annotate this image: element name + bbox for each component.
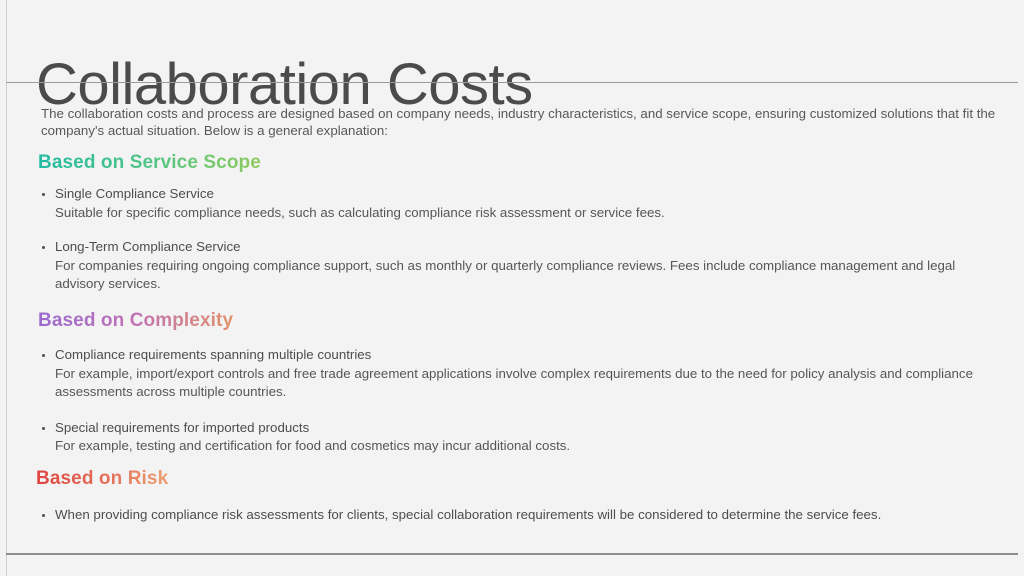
- list-item: Compliance requirements spanning multipl…: [38, 346, 998, 402]
- section-heading-complexity: Based on Complexity: [38, 308, 233, 334]
- bullet-description: Suitable for specific compliance needs, …: [55, 204, 998, 223]
- title-divider: [6, 82, 1018, 83]
- bullet-title: When providing compliance risk assessmen…: [55, 506, 996, 525]
- bullet-title: Compliance requirements spanning multipl…: [55, 346, 998, 365]
- bullet-description: For example, testing and certification f…: [55, 437, 998, 456]
- footer-divider: [6, 553, 1018, 555]
- section-service-scope: Based on Service Scope Single Compliance…: [38, 150, 998, 294]
- bullet-title: Long-Term Compliance Service: [55, 238, 998, 257]
- left-frame-line: [6, 0, 7, 576]
- intro-paragraph: The collaboration costs and process are …: [41, 105, 1013, 139]
- bullet-title: Single Compliance Service: [55, 185, 998, 204]
- bullet-title: Special requirements for imported produc…: [55, 419, 998, 438]
- list-item: Single Compliance Service Suitable for s…: [38, 185, 998, 222]
- list-item: Long-Term Compliance Service For compani…: [38, 238, 998, 294]
- list-item: Special requirements for imported produc…: [38, 419, 998, 456]
- list-item: When providing compliance risk assessmen…: [36, 506, 996, 525]
- section-risk: Based on Risk When providing compliance …: [36, 466, 996, 525]
- section-complexity: Based on Complexity Compliance requireme…: [38, 308, 998, 456]
- bullet-list-complexity: Compliance requirements spanning multipl…: [38, 346, 998, 456]
- bullet-list-risk: When providing compliance risk assessmen…: [36, 506, 996, 525]
- bullet-list-service-scope: Single Compliance Service Suitable for s…: [38, 185, 998, 294]
- section-heading-risk: Based on Risk: [36, 466, 168, 492]
- bullet-description: For example, import/export controls and …: [55, 365, 998, 402]
- slide: Collaboration Costs The collaboration co…: [0, 0, 1024, 576]
- bullet-description: For companies requiring ongoing complian…: [55, 257, 998, 294]
- section-heading-service-scope: Based on Service Scope: [38, 150, 261, 176]
